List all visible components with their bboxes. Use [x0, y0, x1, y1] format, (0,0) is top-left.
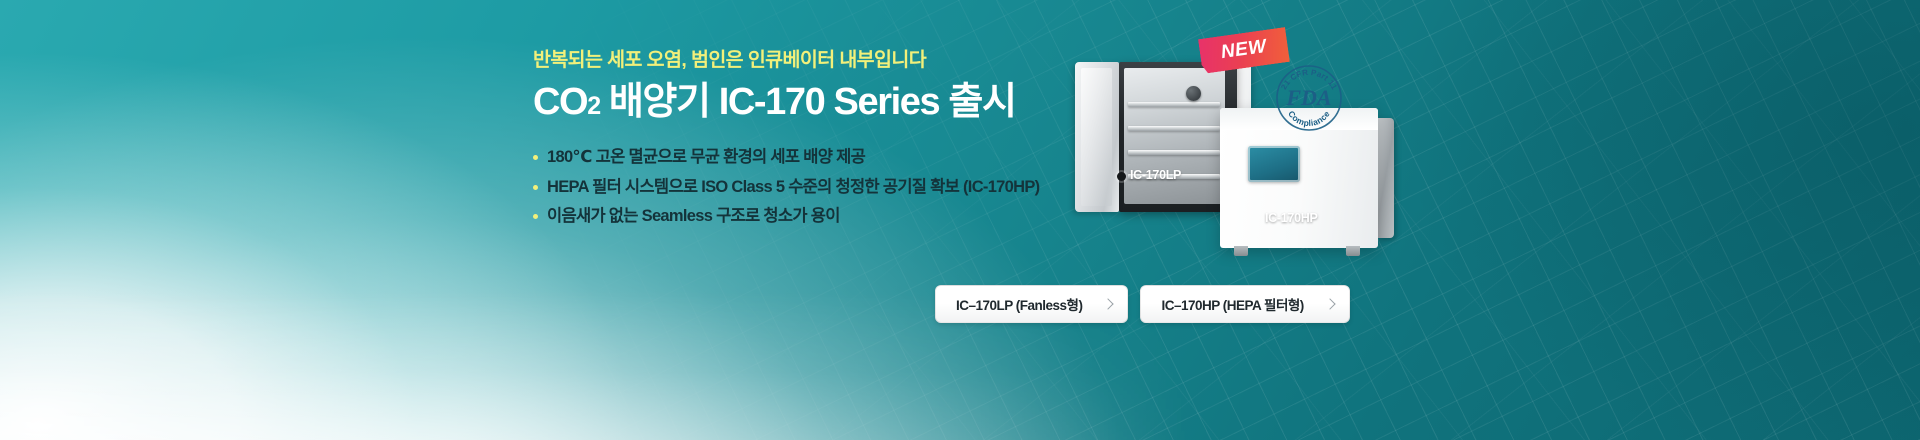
product-caption-hp: IC-170HP: [1265, 211, 1317, 225]
bullet-dot-icon: [533, 214, 538, 219]
product-caption-lp: IC-170LP: [1130, 168, 1181, 182]
cta-button-label: IC–170LP (Fanless형): [956, 294, 1082, 314]
cta-button-label: IC–170HP (HEPA 필터형): [1161, 294, 1303, 314]
hp-foot: [1346, 246, 1360, 256]
lp-open-door: [1075, 62, 1119, 212]
lp-shelf: [1128, 102, 1220, 107]
cta-button-row: IC–170LP (Fanless형) IC–170HP (HEPA 필터형): [935, 285, 1350, 323]
promo-banner: 반복되는 세포 오염, 범인은 인큐베이터 내부입니다 CO2 배양기 IC-1…: [0, 0, 1920, 440]
product-image-group: [1055, 40, 1475, 280]
lp-control-knob-icon: [1186, 86, 1201, 101]
chevron-right-icon: [1103, 298, 1114, 309]
lp-door-latch-icon: [1117, 172, 1126, 181]
bullet-dot-icon: [533, 155, 538, 160]
headline-co2-subscript: 2: [587, 92, 600, 120]
lp-shelf: [1128, 126, 1220, 131]
bullet-dot-icon: [533, 185, 538, 190]
svg-text:FDA: FDA: [1285, 85, 1331, 110]
fda-compliance-seal-icon: 21 CFR Part 11 Compliance FDA: [1272, 61, 1346, 135]
feature-text: 이음새가 없는 Seamless 구조로 청소가 용이: [547, 204, 840, 229]
lp-shelf: [1128, 150, 1220, 155]
headline-co2-prefix: CO: [533, 81, 587, 123]
hp-foot: [1234, 246, 1248, 256]
feature-text: 180℃ 고온 멸균으로 무균 환경의 세포 배양 제공: [547, 145, 865, 170]
cta-button-ic170hp[interactable]: IC–170HP (HEPA 필터형): [1140, 285, 1349, 323]
chevron-right-icon: [1324, 298, 1335, 309]
cta-button-ic170lp[interactable]: IC–170LP (Fanless형): [935, 285, 1128, 323]
lp-inner-chamber: [1124, 68, 1225, 204]
headline-remainder: 배양기 IC-170 Series 출시: [600, 81, 1016, 123]
hp-control-display: [1248, 146, 1300, 182]
feature-text: HEPA 필터 시스템으로 ISO Class 5 수준의 청정한 공기질 확보…: [547, 175, 1039, 200]
hp-door-handle: [1378, 118, 1394, 238]
